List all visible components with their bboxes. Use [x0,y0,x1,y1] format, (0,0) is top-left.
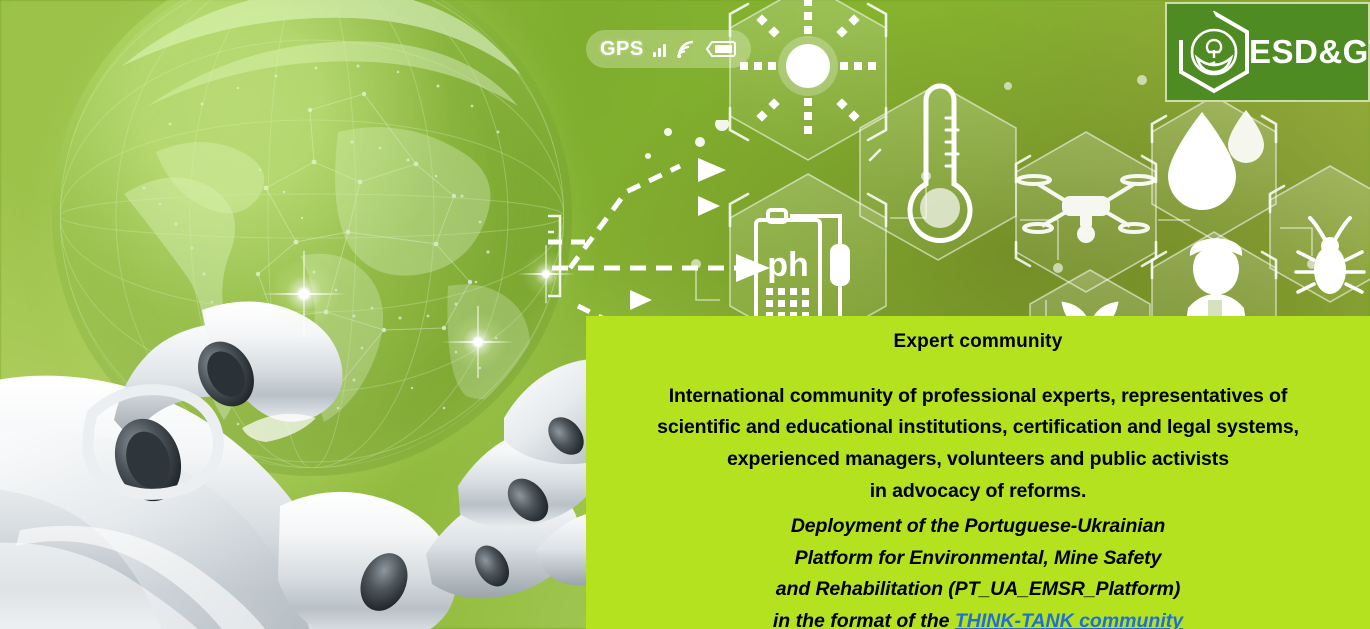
expert-community-panel: Expert community International community… [586,316,1370,629]
hexagon-tree-icon [1175,10,1253,94]
body-line: scientific and educational institutions,… [594,412,1362,444]
logo-text: ESD&GT [1249,33,1370,71]
panel-body: International community of professional … [594,381,1362,507]
robotic-hand-icon [0,250,620,629]
wifi-signal-icon [675,39,697,59]
svg-text:ph: ph [767,246,809,284]
body-line: in advocacy of reforms. [594,476,1362,508]
body-line: experienced managers, volunteers and pub… [594,444,1362,476]
think-tank-link[interactable]: THINK-TANK community [955,610,1183,629]
signal-bars-icon [653,42,666,57]
italic-line: and Rehabilitation (PT_UA_EMSR_Platform) [594,574,1362,606]
panel-italic-block: Deployment of the Portuguese-Ukrainian P… [594,511,1362,606]
gps-status-chip[interactable]: GPS [586,30,751,68]
battery-icon [706,40,736,58]
panel-title: Expert community [594,332,1362,353]
banner-stage: ph [0,0,1370,629]
think-tank-prefix: in the format of the [773,610,955,629]
body-line: International community of professional … [594,381,1362,413]
esdgt-logo[interactable]: ESD&GT [1165,2,1370,102]
gps-label: GPS [600,38,644,61]
think-tank-line: in the format of the THINK-TANK communit… [594,606,1362,629]
italic-line: Platform for Environmental, Mine Safety [594,543,1362,575]
italic-line: Deployment of the Portuguese-Ukrainian [594,511,1362,543]
